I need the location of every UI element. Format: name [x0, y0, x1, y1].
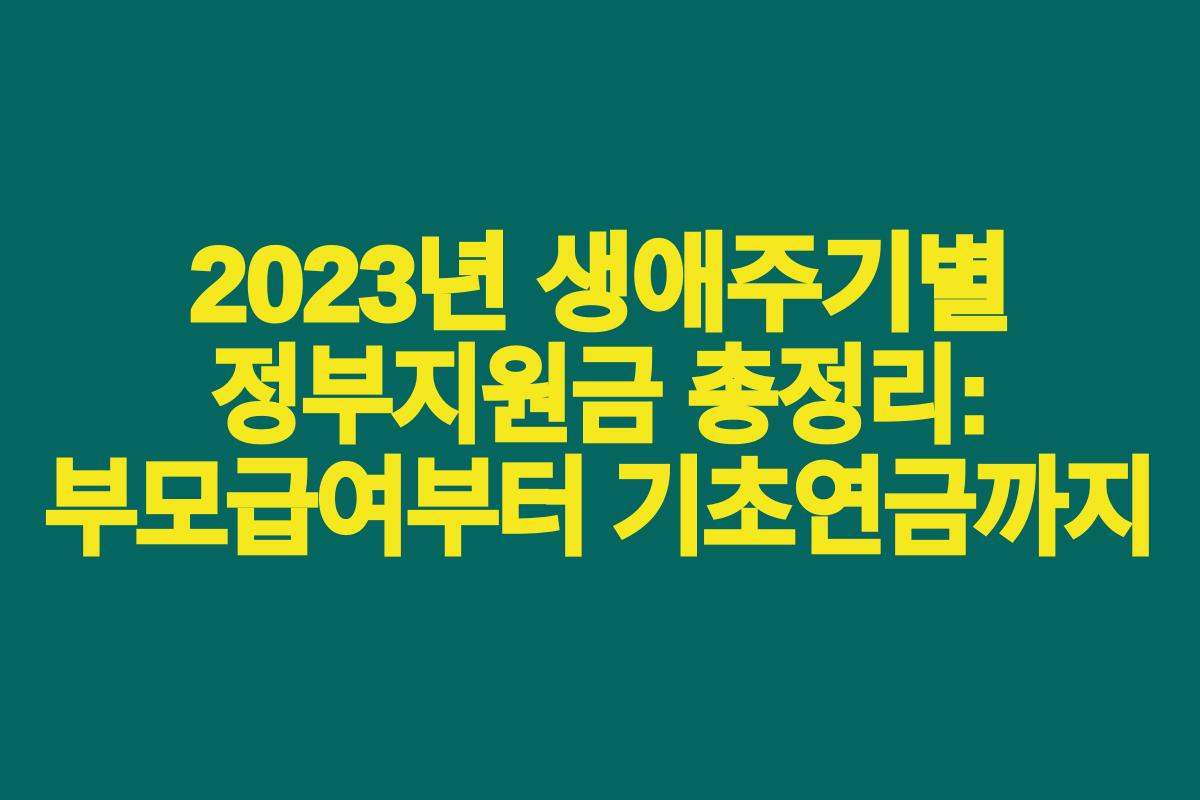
title-line-1: 2023년 생애주기별 [190, 229, 1011, 341]
thumbnail-card: 2023년 생애주기별 정부지원금 총정리: 부모급여부터 기초연금까지 [0, 0, 1200, 800]
title-line-3: 부모급여부터 기초연금까지 [45, 453, 1155, 565]
page-title: 2023년 생애주기별 정부지원금 총정리: 부모급여부터 기초연금까지 [0, 229, 1200, 565]
title-line-2: 정부지원금 총정리: [212, 341, 989, 453]
